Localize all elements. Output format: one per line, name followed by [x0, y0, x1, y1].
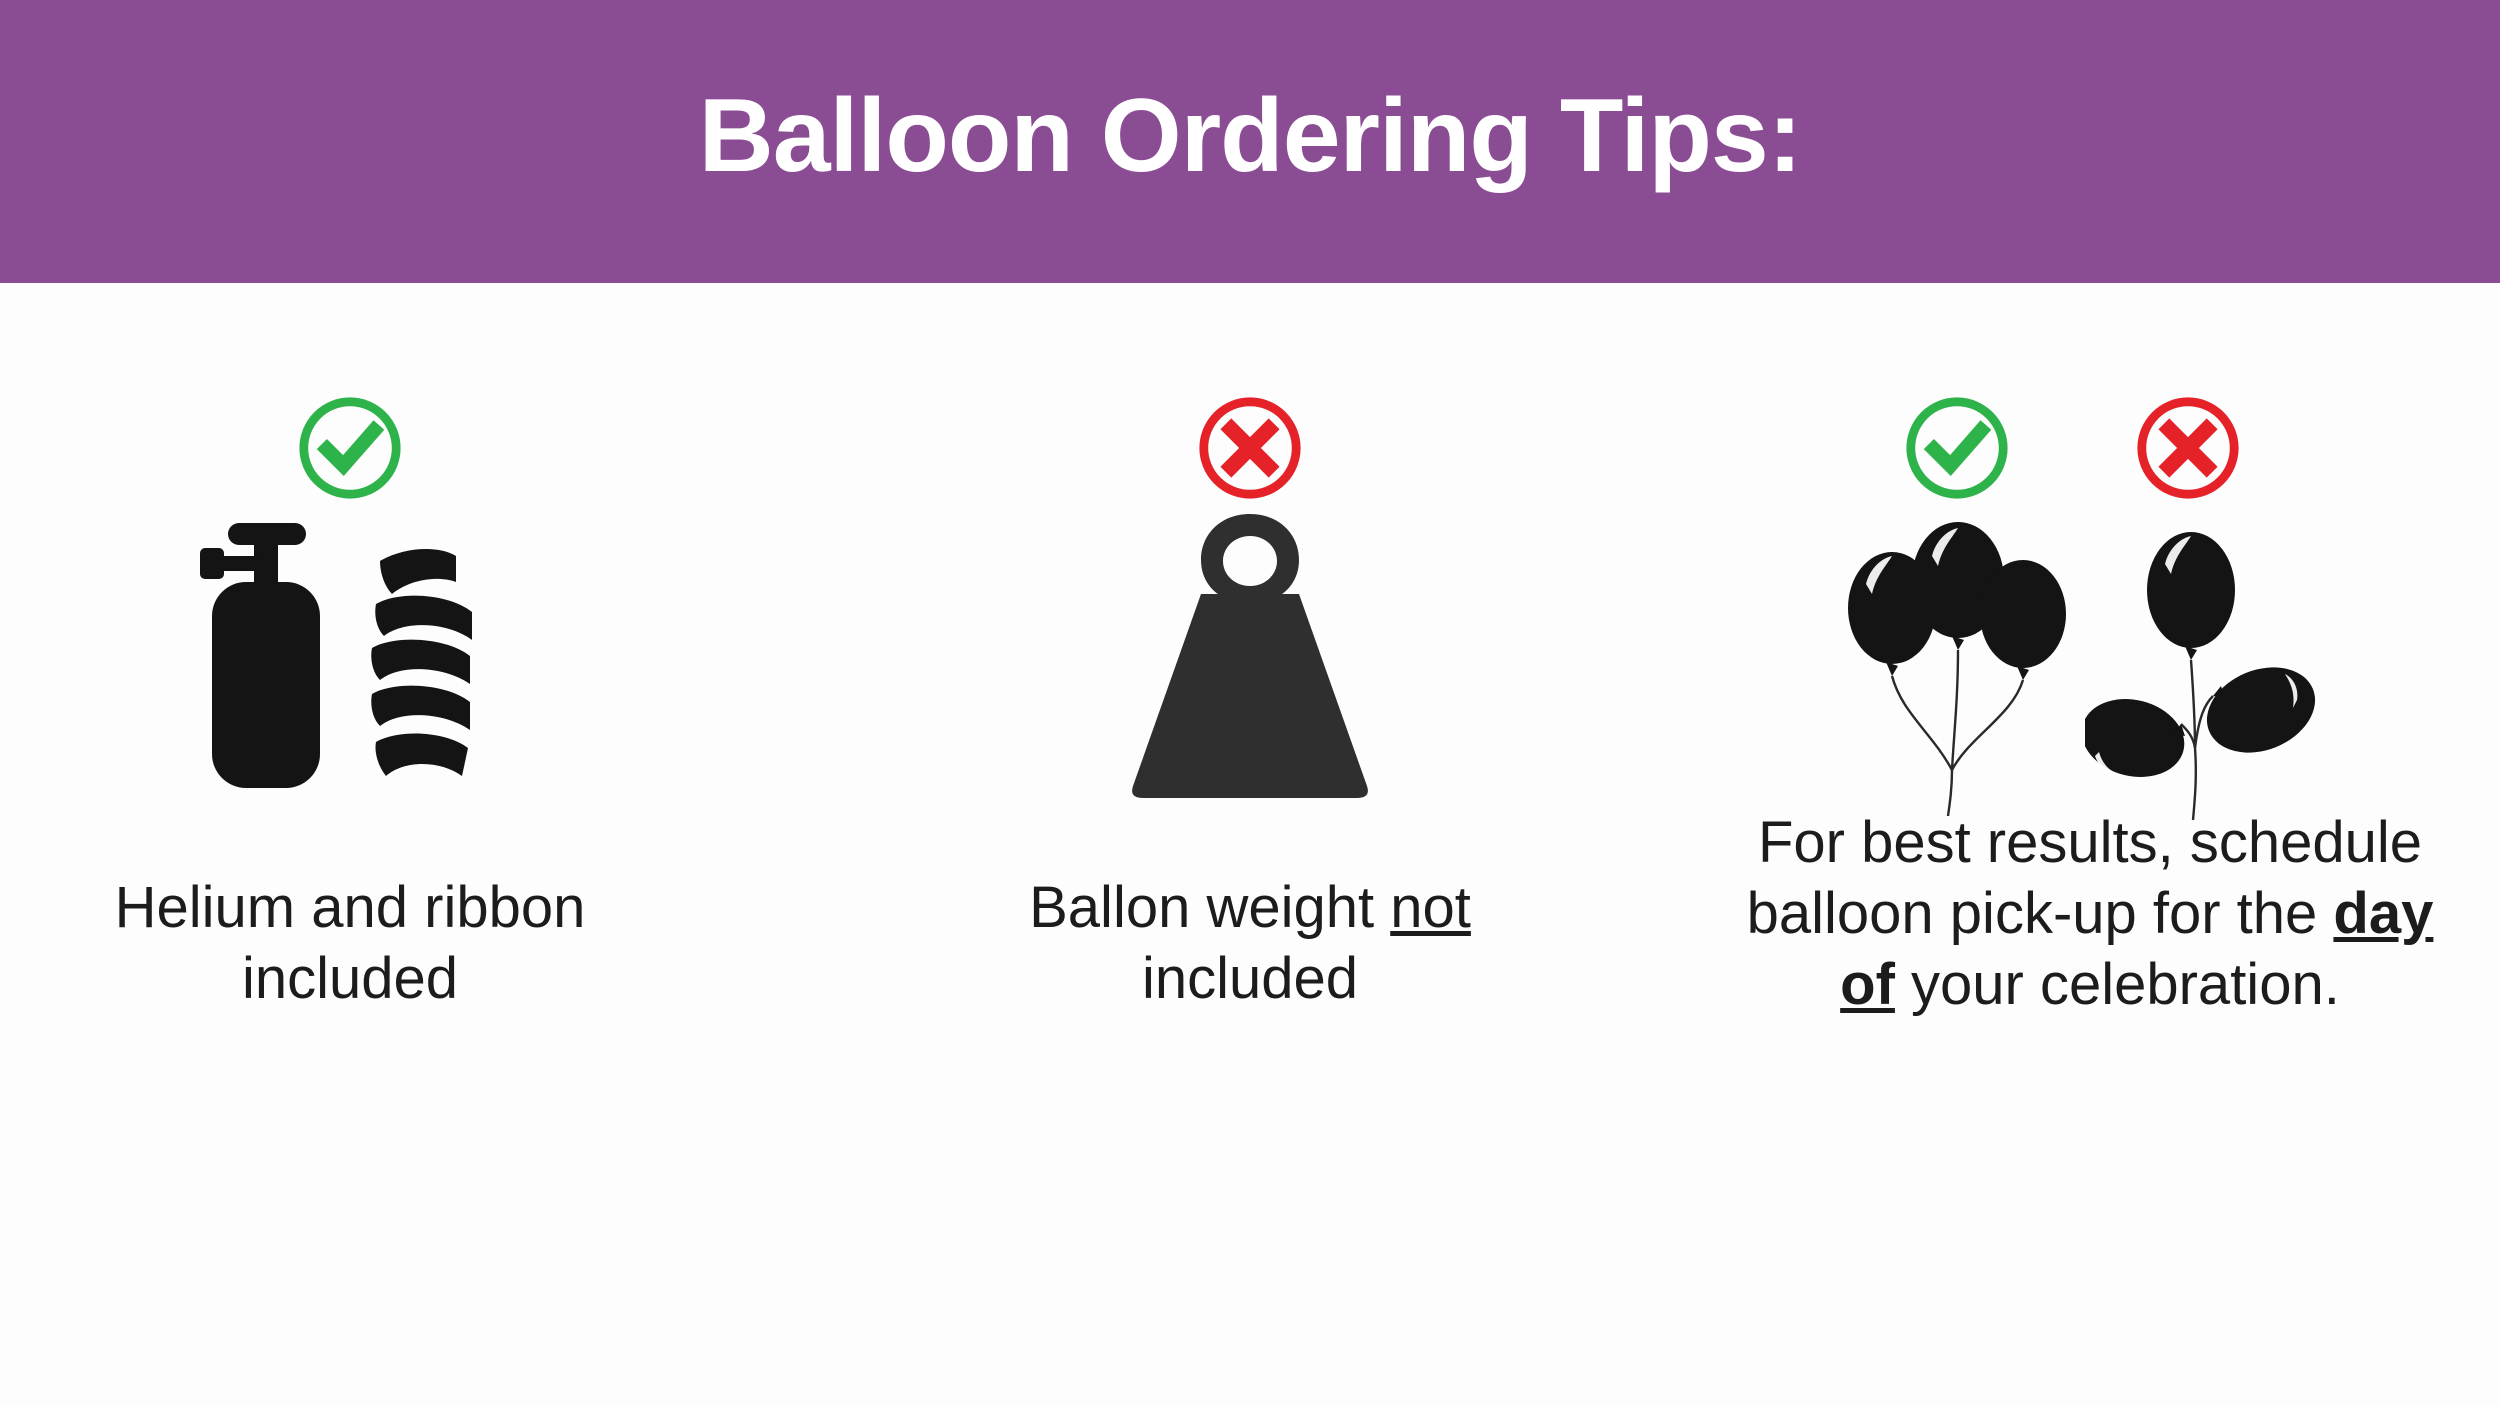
- caption-text-part-1: For best results, schedule balloon pick-…: [1747, 810, 2422, 946]
- balloons-inflated-icon: [1840, 498, 2080, 828]
- header-banner: Balloon Ordering Tips:: [0, 0, 2500, 283]
- art-row: [900, 498, 1600, 828]
- balloons-deflated-icon: [2085, 498, 2335, 828]
- cross-circle-icon: [1195, 393, 1305, 503]
- balloon-weight-icon: [1115, 498, 1385, 828]
- tip-caption-helium-ribbon: Helium and ribbon included: [0, 873, 700, 1015]
- helium-tank-and-ribbon-art: [200, 498, 500, 828]
- caption-emphasis-not: not: [1390, 875, 1471, 940]
- tips-row: Helium and ribbon included: [0, 283, 2500, 1406]
- tip-column-pickup-timing: For best results, schedule balloon pick-…: [1680, 283, 2500, 1406]
- caption-text-part-1: Ballon weight: [1029, 875, 1390, 940]
- tip-column-helium-ribbon: Helium and ribbon included: [0, 283, 700, 1406]
- caption-text: Helium and ribbon included: [115, 875, 586, 1011]
- check-circle-icon: [295, 393, 405, 503]
- helium-tank-icon: [200, 523, 320, 788]
- balloon-ordering-tips-infographic: Balloon Ordering Tips:: [0, 0, 2500, 1406]
- tip-column-balloon-weight: Ballon weight not included: [900, 283, 1600, 1406]
- art-row: [0, 498, 700, 828]
- badge-row: [1680, 283, 2500, 533]
- tip-caption-pickup-timing: For best results, schedule balloon pick-…: [1680, 808, 2500, 1020]
- check-circle-icon: [1902, 393, 2012, 503]
- tip-caption-balloon-weight: Ballon weight not included: [900, 873, 1600, 1015]
- art-row: [1680, 498, 2500, 828]
- badge-row: [900, 283, 1600, 533]
- curly-ribbon-icon: [371, 549, 472, 776]
- caption-text-part-3: your celebration.: [1895, 952, 2340, 1017]
- cross-circle-icon: [2133, 393, 2243, 503]
- badge-row: [0, 283, 700, 533]
- caption-text-part-3: included: [1142, 946, 1358, 1011]
- page-title: Balloon Ordering Tips:: [699, 84, 1802, 188]
